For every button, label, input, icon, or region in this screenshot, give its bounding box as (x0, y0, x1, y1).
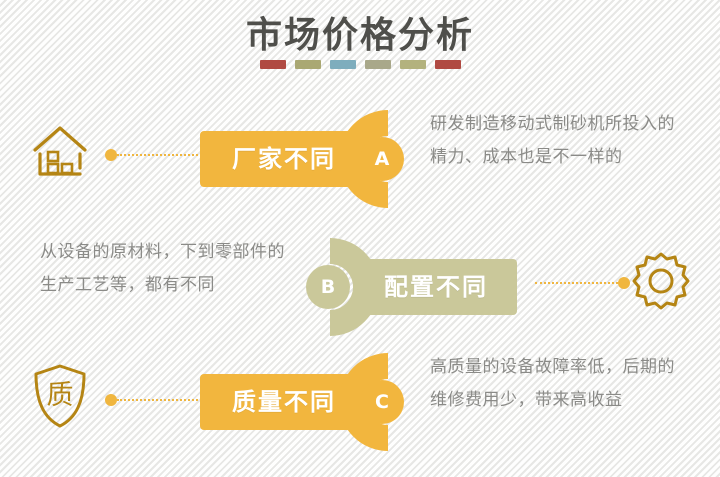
band-label-b: 配置不同 (384, 275, 488, 299)
gear-icon (625, 242, 697, 320)
connector-dot-c (105, 394, 117, 406)
connector-dot-a (105, 149, 117, 161)
connector-c (105, 395, 205, 405)
description-c: 高质量的设备故障率低，后期的维修费用少，带来高收益 (430, 351, 680, 417)
description-b: 从设备的原材料，下到零部件的生产工艺等，都有不同 (40, 236, 290, 302)
title-underline-dashes (0, 60, 720, 69)
dash-1 (260, 60, 286, 69)
connector-line-a (117, 154, 205, 156)
dash-5 (400, 60, 426, 69)
dash-3 (330, 60, 356, 69)
letter-badge-a: A (360, 137, 404, 181)
connector-b (535, 278, 630, 288)
graphic-a: 厂家不同 A (200, 104, 415, 214)
description-a: 研发制造移动式制砂机所投入的精力、成本也是不一样的 (430, 108, 680, 174)
dash-2 (295, 60, 321, 69)
connector-line-b (535, 282, 618, 284)
row-b: 从设备的原材料，下到零部件的生产工艺等，都有不同 配置不同 B (0, 228, 720, 348)
connector-line-c (117, 399, 205, 401)
shield-quality-icon: 质 (24, 357, 96, 435)
connector-a (105, 150, 205, 160)
row-a: 厂家不同 A 研发制造移动式制砂机所投入的精力、成本也是不一样的 (0, 100, 720, 220)
house-icon (24, 114, 96, 192)
graphic-b: 配置不同 B (300, 232, 520, 342)
dash-4 (365, 60, 391, 69)
letter-badge-c: C (360, 380, 404, 424)
graphic-c: 质量不同 C (200, 347, 415, 457)
infographic-canvas: 市场价格分析 厂家不同 (0, 0, 720, 477)
dash-6 (435, 60, 461, 69)
page-title: 市场价格分析 (0, 6, 720, 58)
band-b[interactable]: 配置不同 (355, 259, 517, 315)
letter-badge-b: B (306, 265, 350, 309)
row-c: 质 质量不同 C 高质量的设备故障率低，后期的维修费用少，带来高收益 (0, 345, 720, 465)
shield-glyph: 质 (47, 380, 74, 411)
